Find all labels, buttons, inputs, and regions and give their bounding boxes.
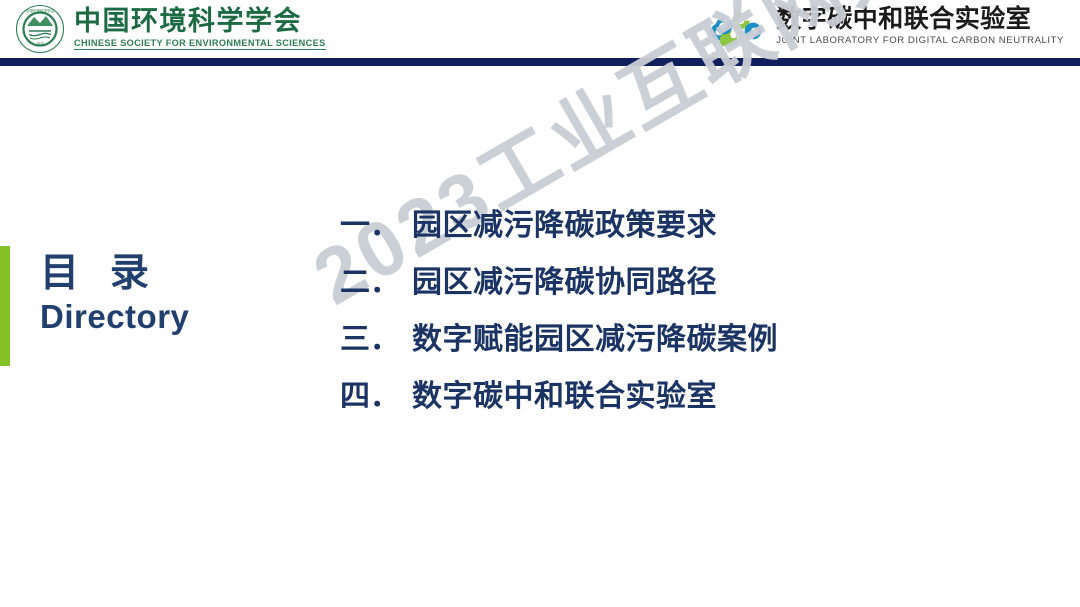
list-item[interactable]: 三． 数字赋能园区减污降碳案例 (340, 314, 1040, 371)
toc-item-number: 三． (340, 314, 412, 358)
svg-text:中国环境科学学会: 中国环境科学学会 (26, 8, 55, 13)
toc-item-label: 园区减污降碳政策要求 (412, 200, 717, 244)
list-item[interactable]: 一． 园区减污降碳政策要求 (340, 200, 1040, 257)
directory-title-block: 目 录 Directory (40, 252, 300, 336)
left-organization-text: 中国环境科学学会 CHINESE SOCIETY FOR ENVIRONMENT… (74, 8, 326, 50)
toc-item-label: 数字碳中和联合实验室 (412, 371, 717, 415)
left-org-name-en: CHINESE SOCIETY FOR ENVIRONMENTAL SCIENC… (74, 38, 326, 50)
page-title-en: Directory (40, 298, 300, 336)
toc-item-label: 数字赋能园区减污降碳案例 (412, 314, 778, 358)
page-title-cn: 目 录 (40, 252, 300, 296)
svg-text:1978: 1978 (36, 42, 44, 46)
pinwheel-logo-icon (711, 6, 767, 46)
list-item[interactable]: 四． 数字碳中和联合实验室 (340, 371, 1040, 428)
toc-item-number: 一． (340, 200, 412, 244)
table-of-contents: 一． 园区减污降碳政策要求 二． 园区减污降碳协同路径 三． 数字赋能园区减污降… (340, 200, 1040, 428)
slide-canvas: 1978 中国环境科学学会 中国环境科学学会 CHINESE SOCIETY F… (0, 0, 1080, 607)
right-org-name-cn: 数字碳中和联合实验室 (776, 6, 1064, 32)
right-org-name-en: JOINT LABORATORY FOR DIGITAL CARBON NEUT… (776, 35, 1064, 46)
slide-header: 1978 中国环境科学学会 中国环境科学学会 CHINESE SOCIETY F… (0, 0, 1080, 58)
green-accent-bar (0, 246, 10, 366)
list-item[interactable]: 二． 园区减污降碳协同路径 (340, 257, 1040, 314)
right-organization-text: 数字碳中和联合实验室 JOINT LABORATORY FOR DIGITAL … (776, 6, 1064, 45)
left-org-name-cn: 中国环境科学学会 (74, 8, 326, 36)
header-divider-rule (0, 58, 1080, 66)
csres-mountain-seal-icon: 1978 中国环境科学学会 (14, 4, 66, 54)
left-organization-logo: 1978 中国环境科学学会 中国环境科学学会 CHINESE SOCIETY F… (14, 4, 326, 54)
toc-item-label: 园区减污降碳协同路径 (412, 257, 717, 301)
toc-item-number: 四． (340, 371, 412, 415)
toc-item-number: 二． (340, 257, 412, 301)
right-organization-logo: 数字碳中和联合实验室 JOINT LABORATORY FOR DIGITAL … (711, 6, 1064, 46)
